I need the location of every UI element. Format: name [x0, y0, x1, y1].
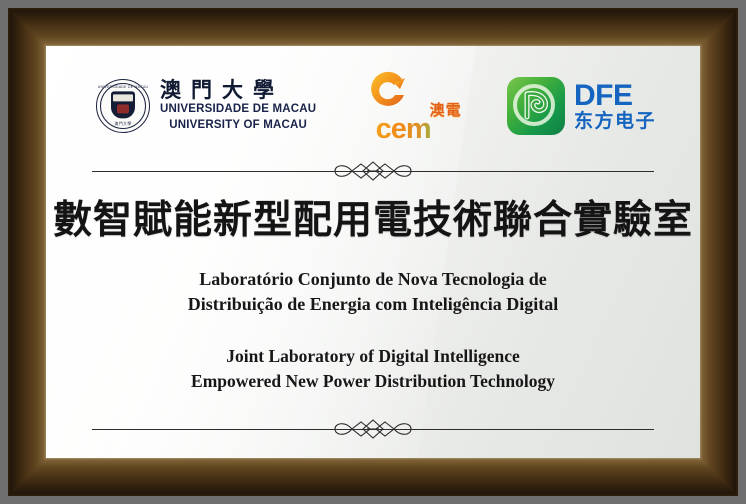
university-crest-icon: UNIVERSIDADE DE MACAU 澳門大學 — [96, 79, 150, 133]
frame-wood-bottom — [10, 458, 736, 494]
ornamental-divider-top — [92, 158, 654, 184]
title-english-line-1: Joint Laboratory of Digital Intelligence — [191, 344, 555, 369]
dfe-leaf-mark-icon — [507, 77, 565, 135]
ornamental-knot-divider-icon — [325, 417, 421, 441]
cem-logo: 澳電 cem — [360, 67, 464, 145]
crest-shield-icon — [111, 91, 135, 118]
laboratory-plaque: UNIVERSIDADE DE MACAU 澳門大學 澳門大學 UNIVERSI… — [46, 46, 700, 458]
dfe-name-chinese: 东方电子 — [574, 112, 656, 132]
university-name-chinese: 澳門大學 — [160, 79, 316, 101]
laboratory-title-english: Joint Laboratory of Digital Intelligence… — [191, 344, 555, 393]
frame-wood-right — [700, 10, 736, 494]
plaque-content: UNIVERSIDADE DE MACAU 澳門大學 澳門大學 UNIVERSI… — [46, 46, 700, 458]
logo-row: UNIVERSIDADE DE MACAU 澳門大學 澳門大學 UNIVERSI… — [78, 60, 668, 152]
university-name-english: UNIVERSITY OF MACAU — [160, 119, 316, 133]
laboratory-title-portuguese: Laboratório Conjunto de Nova Tecnologia … — [188, 267, 558, 317]
frame-wood-top — [10, 10, 736, 46]
laboratory-title-chinese: 數智賦能新型配用電技術聯合實驗室 — [53, 198, 693, 245]
picture-frame: UNIVERSIDADE DE MACAU 澳門大學 澳門大學 UNIVERSI… — [8, 8, 738, 496]
cem-swirl-icon — [364, 69, 410, 115]
cem-name-english: cem — [376, 113, 431, 146]
dfe-name-english: DFE — [574, 81, 656, 111]
dfe-logo: DFE 东方电子 — [507, 77, 656, 135]
frame-bevel: UNIVERSIDADE DE MACAU 澳門大學 澳門大學 UNIVERSI… — [10, 10, 736, 494]
university-of-macau-logo: UNIVERSIDADE DE MACAU 澳門大學 澳門大學 UNIVERSI… — [96, 79, 316, 133]
title-portuguese-line-2: Distribuição de Energia com Inteligência… — [188, 292, 558, 317]
frame-wood-left — [10, 10, 46, 494]
title-english-line-2: Empowered New Power Distribution Technol… — [191, 369, 555, 394]
crest-ring-bottom-text: 澳門大學 — [97, 121, 149, 127]
cem-name-chinese: 澳電 — [430, 99, 462, 120]
title-block: 數智賦能新型配用電技術聯合實驗室 Laboratório Conjunto de… — [78, 184, 668, 410]
screenshot-stage: UNIVERSIDADE DE MACAU 澳門大學 澳門大學 UNIVERSI… — [0, 0, 746, 504]
university-name-portuguese: UNIVERSIDADE DE MACAU — [160, 103, 316, 117]
ornamental-divider-bottom — [92, 416, 654, 442]
dfe-name-block: DFE 东方电子 — [574, 81, 656, 132]
title-portuguese-line-1: Laboratório Conjunto de Nova Tecnologia … — [188, 267, 558, 292]
university-name-block: 澳門大學 UNIVERSIDADE DE MACAU UNIVERSITY OF… — [160, 79, 316, 133]
ornamental-knot-divider-icon — [325, 159, 421, 183]
crest-ring-top-text: UNIVERSIDADE DE MACAU — [97, 85, 149, 89]
